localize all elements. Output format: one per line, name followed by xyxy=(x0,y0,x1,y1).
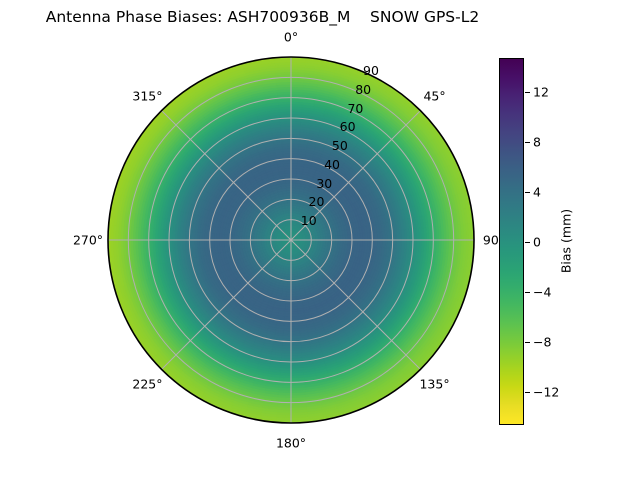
radial-tick-label-30: 30 xyxy=(316,176,332,191)
theta-tick-label-225: 225° xyxy=(132,376,162,391)
colorbar-tick-mark xyxy=(525,242,530,243)
colorbar-tick-mark xyxy=(525,92,530,93)
colorbar-tick-mark xyxy=(525,342,530,343)
colorbar-tick-label: −8 xyxy=(533,335,551,350)
colorbar-tick-mark xyxy=(525,392,530,393)
polar-plot-surface xyxy=(107,56,475,424)
colorbar-tick-mark xyxy=(525,142,530,143)
radial-tick-label-60: 60 xyxy=(340,119,356,134)
colorbar-tick-label: −4 xyxy=(533,285,551,300)
theta-tick-label-135: 135° xyxy=(419,376,449,391)
radial-tick-label-90: 90 xyxy=(363,63,379,78)
radial-tick-label-10: 10 xyxy=(301,213,317,228)
colorbar-axis-label: Bias (mm) xyxy=(559,209,574,273)
colorbar-tick-mark xyxy=(525,192,530,193)
radial-tick-label-70: 70 xyxy=(347,101,363,116)
theta-tick-label-0: 0° xyxy=(284,30,298,45)
colorbar-tick-label: 4 xyxy=(533,185,541,200)
theta-tick-label-270: 270° xyxy=(73,233,103,248)
figure-canvas: Antenna Phase Biases: ASH700936B_M SNOW … xyxy=(0,0,640,480)
polar-grid xyxy=(108,57,474,423)
radial-tick-label-40: 40 xyxy=(324,157,340,172)
radial-tick-label-80: 80 xyxy=(355,82,371,97)
colorbar-tick-label: 12 xyxy=(533,84,549,99)
colorbar-tick-label: −12 xyxy=(533,385,559,400)
colorbar-gradient xyxy=(499,58,524,425)
colorbar-tick-label: 8 xyxy=(533,134,541,149)
radial-tick-label-50: 50 xyxy=(332,138,348,153)
theta-tick-label-180: 180° xyxy=(276,436,306,451)
theta-tick-label-45: 45° xyxy=(423,89,445,104)
page-title: Antenna Phase Biases: ASH700936B_M SNOW … xyxy=(0,8,525,26)
radial-tick-label-20: 20 xyxy=(309,194,325,209)
theta-tick-label-315: 315° xyxy=(132,89,162,104)
polar-axes: 0°45°90°135°180°225°270°315° 10203040506… xyxy=(107,56,475,424)
colorbar-tick-label: 0 xyxy=(533,235,541,250)
colorbar-tick-mark xyxy=(525,292,530,293)
colorbar: 12840−4−8−12 xyxy=(499,58,524,425)
